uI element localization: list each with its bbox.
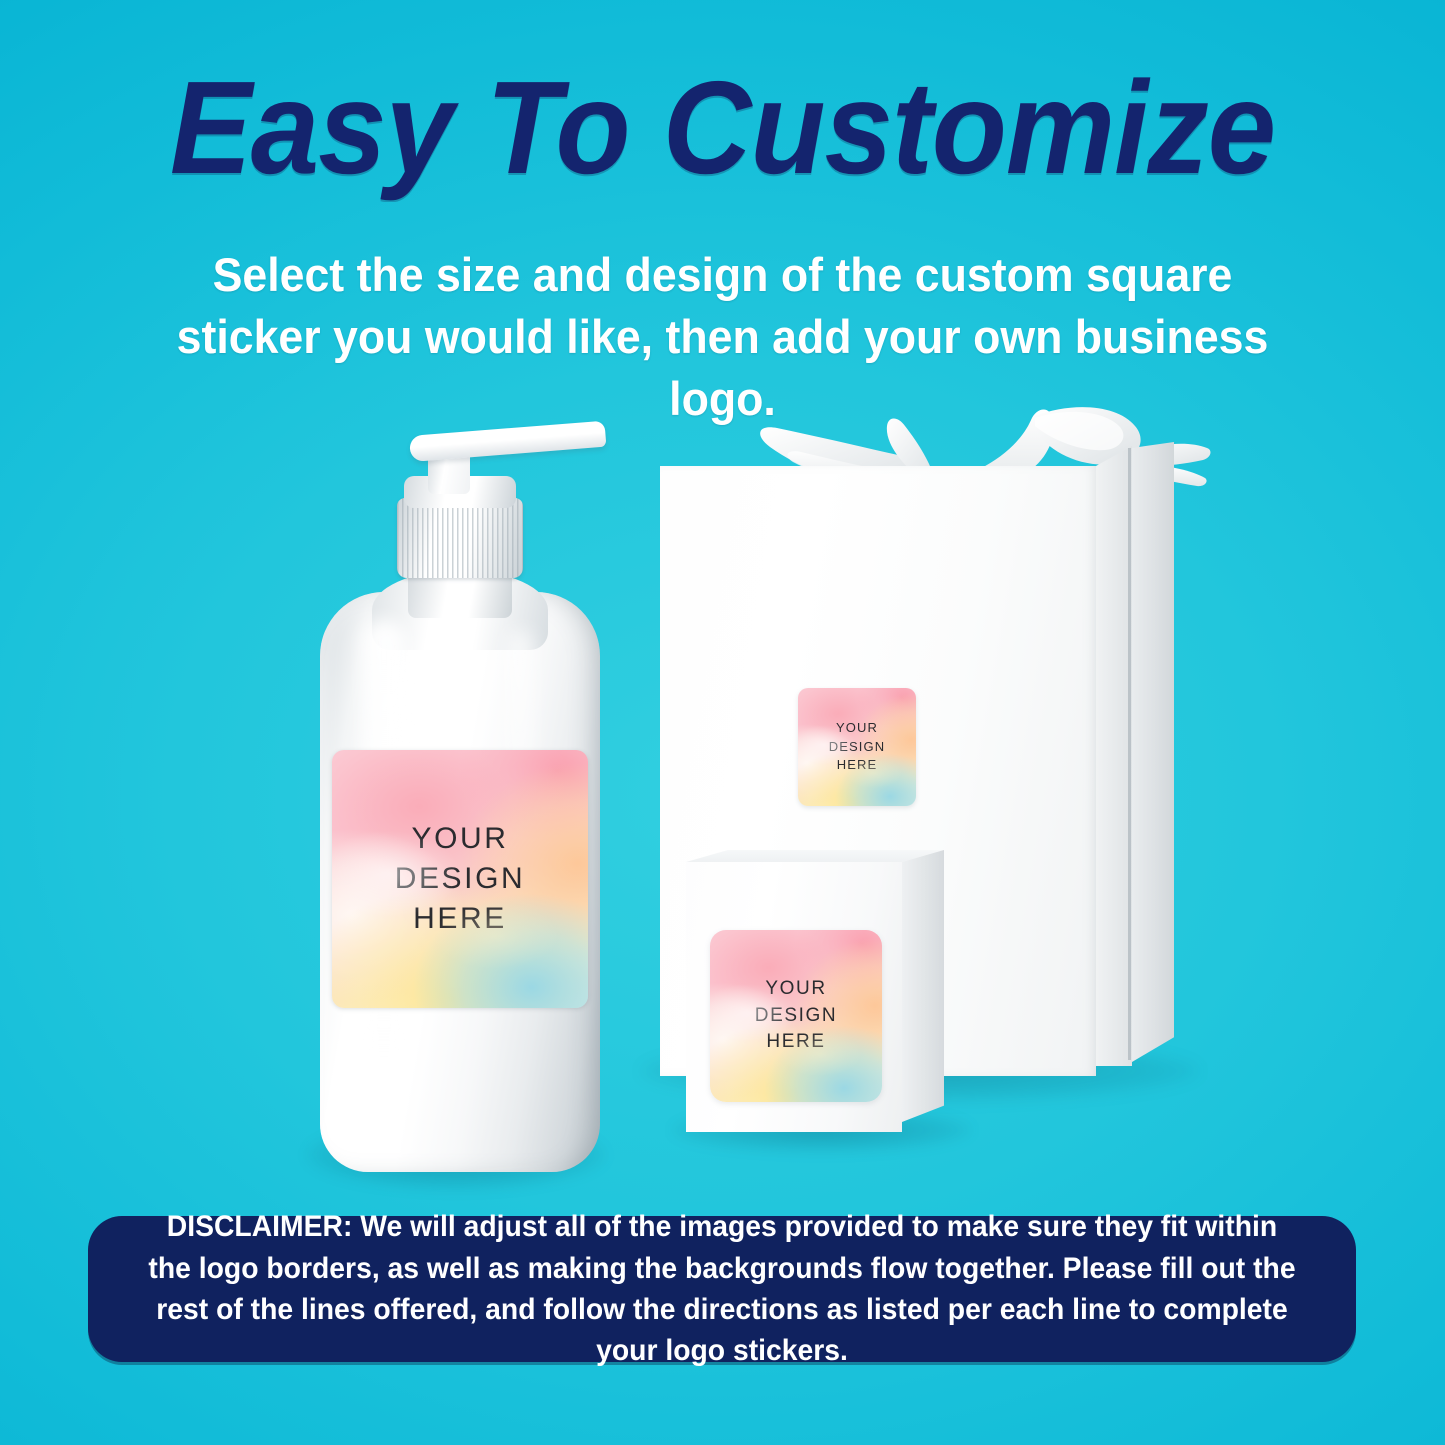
disclaimer-text: DISCLAIMER: We will adjust all of the im… <box>142 1206 1302 1371</box>
sticker-line-2: DESIGN <box>755 1003 837 1030</box>
disclaimer-label: DISCLAIMER: <box>167 1210 353 1243</box>
small-box-sticker: YOUR DESIGN HERE <box>710 930 882 1102</box>
gift-box-right-face <box>1096 446 1132 1066</box>
sticker-line-1: YOUR <box>765 976 826 1003</box>
gift-box-seam <box>1128 448 1131 1060</box>
page-title: Easy To Customize <box>51 62 1395 194</box>
gift-box-sticker-text: YOUR DESIGN HERE <box>798 688 916 806</box>
sticker-line-3: HERE <box>413 899 507 939</box>
small-box-right-face <box>902 850 944 1122</box>
sticker-line-1: YOUR <box>411 819 508 859</box>
sticker-line-3: HERE <box>766 1029 825 1056</box>
disclaimer-banner: DISCLAIMER: We will adjust all of the im… <box>88 1216 1356 1362</box>
pump-nozzle-head <box>409 421 606 462</box>
bottle-sticker-label: YOUR DESIGN HERE <box>332 750 588 1008</box>
sticker-line-1: YOUR <box>836 719 878 738</box>
gift-box-lid-edge <box>1132 442 1174 1062</box>
pump-bottle-mockup: YOUR DESIGN HERE <box>300 420 620 1220</box>
gift-box-sticker: YOUR DESIGN HERE <box>798 688 916 806</box>
poster-canvas: Easy To Customize Select the size and de… <box>0 0 1445 1445</box>
pump-collar-ribbed <box>397 498 523 578</box>
sticker-line-3: HERE <box>837 756 878 775</box>
bottle-sticker-text: YOUR DESIGN HERE <box>332 750 588 1008</box>
sticker-line-2: DESIGN <box>829 738 885 757</box>
sticker-line-2: DESIGN <box>395 859 526 899</box>
small-box-sticker-text: YOUR DESIGN HERE <box>710 930 882 1102</box>
